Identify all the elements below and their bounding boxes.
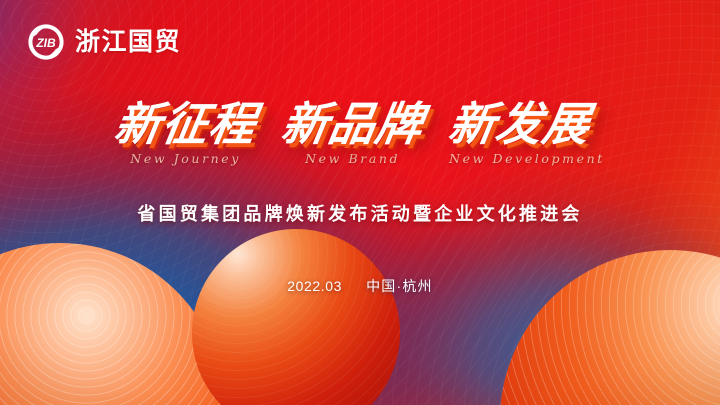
- event-location: 中国·杭州: [366, 276, 433, 296]
- sphere-left-face: [0, 243, 225, 405]
- poster-canvas: ZIB 浙江国贸 新征程 New Journey 新品牌 New Brand 新…: [0, 0, 720, 405]
- headline-en-2: New Brand: [282, 151, 423, 166]
- sphere-right-face: [500, 250, 720, 405]
- brand-company-name: 浙江国贸: [75, 30, 181, 55]
- decorative-sphere-right: [500, 250, 720, 405]
- headline-block: 新征程 New Journey 新品牌 New Brand 新发展 New De…: [0, 101, 720, 166]
- decorative-sphere-center: [192, 229, 400, 405]
- sphere-left-lines: [0, 243, 225, 405]
- sphere-center-face: [192, 229, 400, 405]
- event-meta: 2022.03 中国·杭州: [0, 276, 720, 296]
- headline-en-1: New Journey: [115, 151, 256, 166]
- headline-group-1: 新征程 New Journey: [115, 101, 256, 166]
- headline-cn-3: 新发展: [445, 101, 608, 148]
- svg-text:ZIB: ZIB: [35, 36, 56, 50]
- headline-group-2: 新品牌 New Brand: [282, 101, 423, 166]
- headline-cn-1: 新征程: [111, 101, 259, 148]
- event-subtitle: 省国贸集团品牌焕新发布活动暨企业文化推进会: [0, 200, 720, 226]
- headline-cn-2: 新品牌: [278, 101, 426, 148]
- sphere-right-lines: [500, 250, 720, 405]
- headline-en-3: New Development: [449, 151, 605, 166]
- zib-circle-emblem-icon: ZIB: [26, 22, 66, 62]
- brand-logo: ZIB 浙江国贸: [26, 22, 181, 62]
- event-date: 2022.03: [287, 278, 342, 294]
- sphere-center-lines: [192, 229, 400, 405]
- decorative-sphere-left: [0, 243, 225, 405]
- headline-group-3: 新发展 New Development: [449, 101, 605, 166]
